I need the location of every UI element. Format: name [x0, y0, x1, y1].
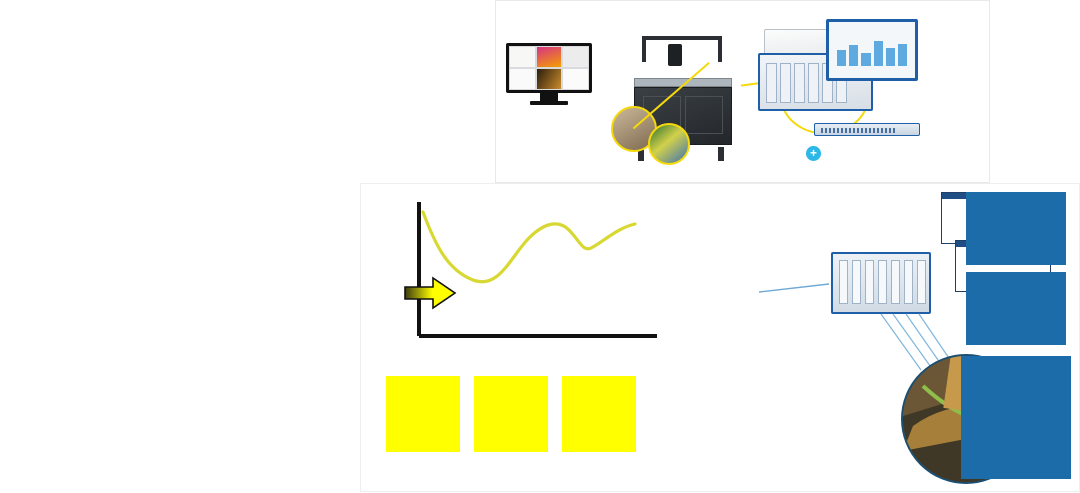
rack-slot	[794, 63, 805, 103]
analysis-workstation	[826, 19, 918, 81]
workstation-chart	[837, 36, 907, 66]
band-chart-rows	[0, 22, 492, 205]
front-panel-ports	[821, 128, 897, 133]
rack-slot	[766, 63, 777, 103]
plus-icon: +	[806, 146, 821, 161]
pilot-software-monitor	[506, 43, 592, 105]
spectrum-closeup-inset	[648, 123, 690, 165]
monitor-base	[530, 101, 568, 105]
opal-probe-head	[668, 44, 682, 66]
cabinet-door	[685, 96, 723, 134]
monitor-stand	[540, 93, 558, 101]
solution-overview-panel: +	[495, 0, 990, 183]
band-chart-axis	[0, 0, 492, 22]
spectral-testing-panel	[360, 183, 1080, 492]
screen-cell	[509, 46, 536, 68]
opal-plate	[634, 78, 732, 87]
rack-slot	[780, 63, 791, 103]
screen-cell	[562, 68, 589, 90]
opal-gantry	[642, 36, 722, 62]
third-party-instrument-unit	[814, 123, 920, 136]
opal-leg	[718, 147, 724, 161]
monitor-screen	[506, 43, 592, 93]
callout-advanced-measurement	[966, 272, 1066, 345]
wavelength-band-chart	[0, 0, 492, 205]
rack-slot	[808, 63, 819, 103]
screen-cell	[536, 68, 563, 90]
screen-cell	[536, 46, 563, 68]
screen-cell	[509, 68, 536, 90]
callout-telecom-spectral-testing	[961, 356, 1071, 479]
callout-large-port-count	[966, 192, 1066, 265]
screen-cell	[562, 46, 589, 68]
